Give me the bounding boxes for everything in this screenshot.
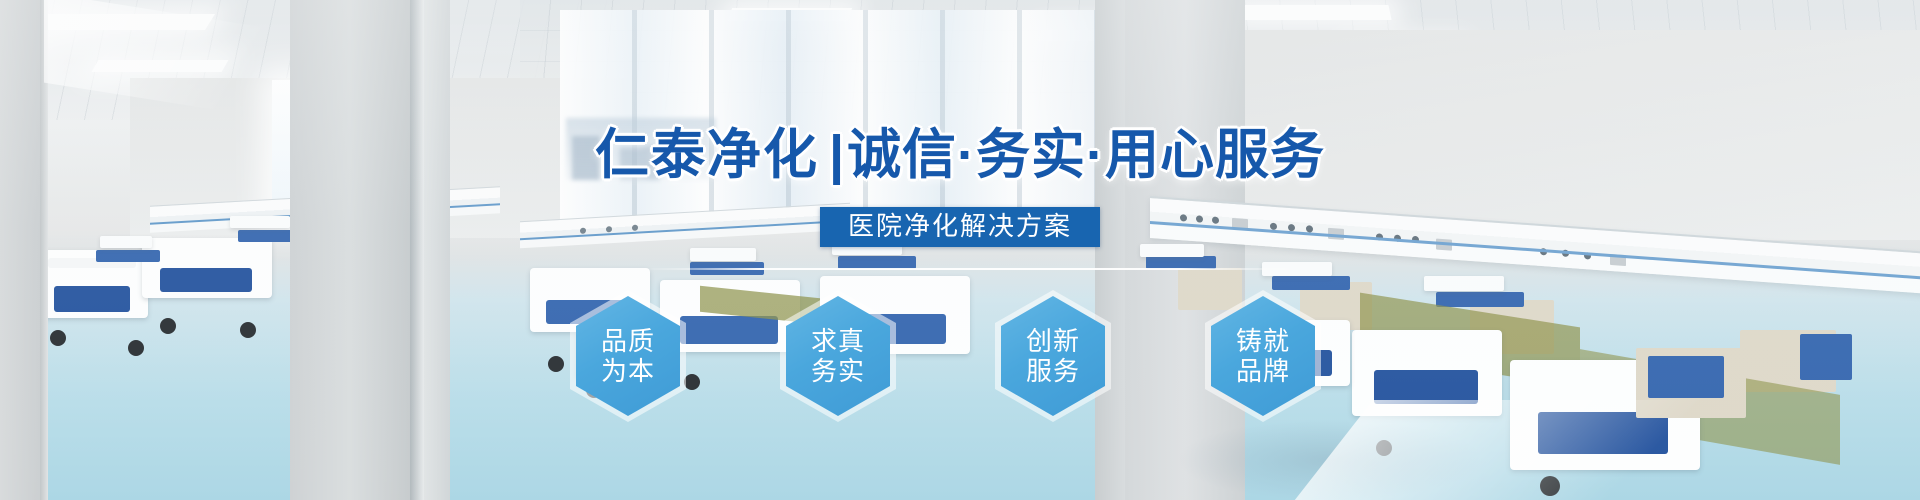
hexagon-shape: 品质 为本 — [576, 296, 680, 416]
hexagon-line-1: 创新 — [1026, 326, 1080, 356]
banner-headline: 仁泰净化|诚信·务实·用心服务 — [0, 126, 1920, 184]
bed-table — [100, 236, 152, 248]
bed-tray — [96, 250, 160, 262]
bed-table — [230, 216, 290, 228]
feature-hexagon-truth[interactable]: 求真 务实 — [780, 290, 896, 422]
ceiling-lamp — [1238, 5, 1391, 20]
hexagon-line-2: 服务 — [1026, 356, 1080, 386]
bed-table — [690, 248, 756, 261]
feature-hexagon-quality[interactable]: 品质 为本 — [570, 290, 686, 422]
headline-slogan: 诚信·务实·用心服务 — [847, 125, 1325, 185]
feature-hexagon-row: 品质 为本 求真 务实 创新 服务 铸就 品牌 — [0, 296, 1920, 436]
hexagon-line-1: 铸就 — [1236, 326, 1290, 356]
hexagon-line-1: 求真 — [811, 326, 865, 356]
feature-hexagon-innovation[interactable]: 创新 服务 — [995, 290, 1111, 422]
hexagon-line-2: 品牌 — [1236, 356, 1290, 386]
hexagon-shape: 创新 服务 — [1001, 296, 1105, 416]
hexagon-shape: 求真 务实 — [786, 296, 890, 416]
headline-separator: | — [819, 126, 847, 184]
hospital-purification-hero-banner: 仁泰净化|诚信·务实·用心服务 医院净化解决方案 品质 为本 求真 务实 创新 — [0, 0, 1920, 500]
bed-table — [1140, 244, 1204, 257]
headline-divider — [640, 268, 1300, 270]
bed-table — [1424, 276, 1504, 291]
hospital-bed — [142, 238, 272, 298]
hexagon-line-2: 为本 — [601, 356, 655, 386]
ceiling-lamp — [92, 60, 229, 72]
solution-badge[interactable]: 医院净化解决方案 — [820, 207, 1100, 247]
hexagon-shape: 铸就 品牌 — [1211, 296, 1315, 416]
brand-name: 仁泰净化 — [595, 125, 819, 185]
ceiling-lamp — [35, 14, 215, 30]
feature-hexagon-brand[interactable]: 铸就 品牌 — [1205, 290, 1321, 422]
hexagon-line-1: 品质 — [601, 326, 655, 356]
hexagon-line-2: 务实 — [811, 356, 865, 386]
bed-tray — [1272, 276, 1350, 290]
